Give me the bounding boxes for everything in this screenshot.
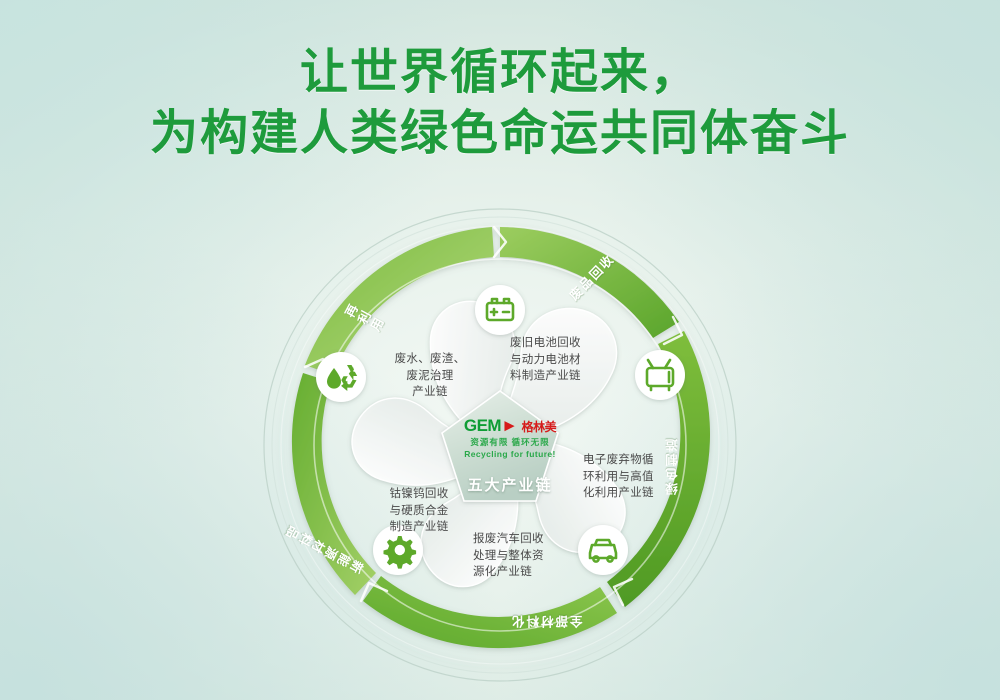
gear-icon [384, 536, 417, 569]
headline-line-2: 为构建人类绿色命运共同体奋斗 [0, 103, 1000, 164]
industry-chain-diagram: 废旧电池回收 与动力电池材 料制造产业链 废水、废渣、 废泥治理 产业链 钴镍钨… [255, 205, 745, 685]
headline-line-1: 让世界循环起来， [0, 42, 1000, 103]
page-title: 让世界循环起来， 为构建人类绿色命运共同体奋斗 [0, 42, 1000, 165]
icon-node-metal[interactable] [373, 525, 423, 575]
ring-segment-allmaterial [363, 576, 617, 648]
diagram-svg [255, 205, 745, 685]
icon-node-car[interactable] [578, 525, 628, 575]
icon-node-water[interactable] [316, 352, 366, 402]
icon-node-battery[interactable] [475, 285, 525, 335]
icon-node-ewaste[interactable] [635, 350, 685, 400]
